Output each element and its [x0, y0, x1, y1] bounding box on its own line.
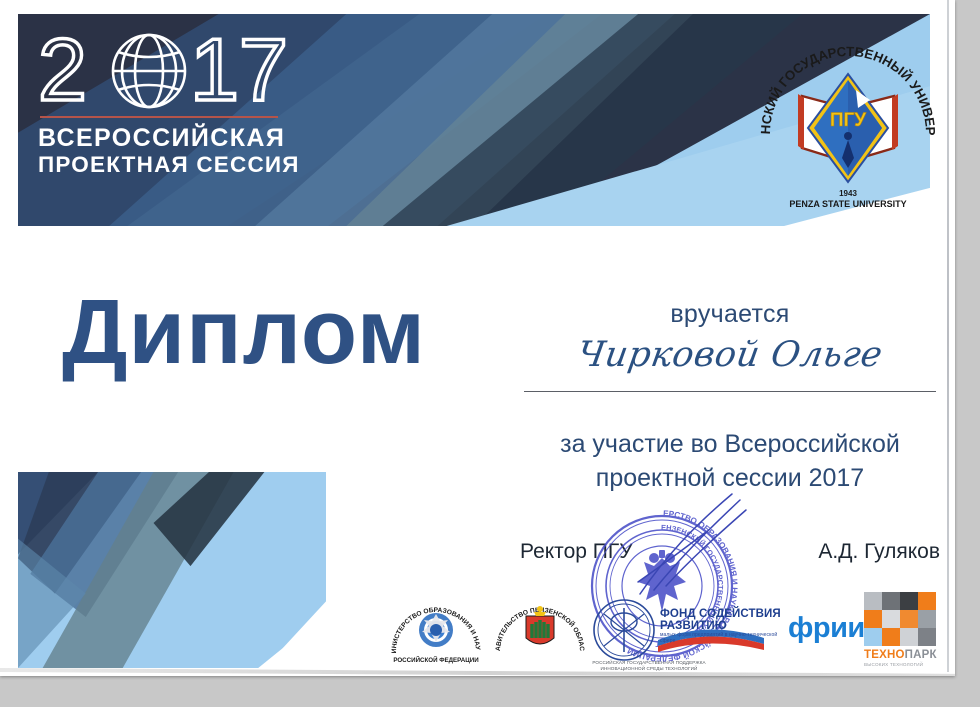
recipient-rule [524, 391, 936, 392]
paper-right-edge [947, 0, 949, 672]
recipient-line: Чирковой Ольге [520, 329, 940, 401]
fund-subtitle: малых форм предприятий в научно-техничес… [660, 632, 784, 644]
recipient-name: Чирковой Ольге [517, 335, 943, 375]
svg-text:PENZA STATE UNIVERSITY: PENZA STATE UNIVERSITY [789, 199, 906, 209]
svg-text:РОССИЙСКОЙ ФЕДЕРАЦИИ: РОССИЙСКОЙ ФЕДЕРАЦИИ [393, 656, 479, 664]
event-logo: 2 17 ВСЕРОССИЙСКАЯ ПРОЕКТНАЯ СЕСС [38, 30, 306, 177]
university-emblem: ПЕНЗЕНСКИЙ ГОСУДАРСТВЕННЫЙ УНИВЕРСИТЕТ [752, 16, 944, 214]
event-logo-line1: ВСЕРОССИЙСКАЯ [38, 124, 306, 152]
technopark-mosaic-icon [864, 592, 936, 646]
ministry-of-education-logo: МИНИСТЕРСТВО ОБРАЗОВАНИЯ И НАУКИ РОССИЙС… [384, 590, 488, 668]
globe-icon [113, 35, 185, 107]
technopark-logo: ТЕХНОПАРК ВЫСОКИХ ТЕХНОЛОГИЙ [864, 592, 944, 670]
svg-text:ПГУ: ПГУ [830, 110, 866, 131]
fund-caption-1: РОССИЙСКАЯ ГОСУДАРСТВЕННАЯ ПОДДЕРЖКА [584, 660, 714, 666]
event-logo-line2: ПРОЕКТНАЯ СЕССИЯ [38, 152, 306, 177]
award-reason: за участие во Всероссийской проектной се… [520, 427, 940, 495]
svg-text:1943: 1943 [839, 189, 857, 198]
presented-label: вручается [520, 300, 940, 329]
technopark-title-part1: ТЕХНО [864, 649, 905, 661]
penza-region-government-logo: ПРАВИТЕЛЬСТВО ПЕНЗЕНСКОЙ ОБЛАСТИ [488, 590, 592, 668]
fund-assistance-logo: ФОНД СОДЕЙСТВИЯ РАЗВИТИЮ малых форм пред… [584, 596, 784, 668]
technopark-title-part2: ПАРК [905, 649, 937, 661]
award-block: вручается Чирковой Ольге за участие во В… [520, 300, 940, 495]
ministry-crest-icon [419, 613, 453, 647]
fund-caption-2: ИННОВАЦИОННОЙ СРЕДЫ ТЕХНОЛОГИЙ [584, 666, 714, 672]
event-logo-rule [40, 116, 278, 118]
technopark-subtitle: ВЫСОКИХ ТЕХНОЛОГИЙ [864, 662, 944, 667]
paper-sheet: 2 17 ВСЕРОССИЙСКАЯ ПРОЕКТНАЯ СЕСС [0, 0, 955, 676]
svg-text:17: 17 [190, 30, 288, 112]
page-title: Диплом [62, 286, 426, 378]
svg-text:2: 2 [38, 30, 87, 112]
event-logo-year: 2 17 [38, 30, 306, 112]
award-reason-line1: за участие во Всероссийской [520, 427, 940, 461]
footer-geometric-decoration [18, 472, 326, 668]
fund-emblem-icon [594, 600, 654, 660]
frii-logo: фрии [788, 612, 865, 645]
footer-logo-row: МИНИСТЕРСТВО ОБРАЗОВАНИЯ И НАУКИ РОССИЙС… [384, 588, 944, 670]
award-reason-line2: проектной сессии 2017 [520, 461, 940, 495]
signer-name: А.Д. Гуляков [818, 540, 940, 564]
frii-title: фрии [788, 612, 865, 645]
technopark-title: ТЕХНОПАРК [864, 649, 944, 661]
certificate-page: 2 17 ВСЕРОССИЙСКАЯ ПРОЕКТНАЯ СЕСС [0, 0, 980, 707]
fund-title: ФОНД СОДЕЙСТВИЯ РАЗВИТИЮ [660, 608, 784, 632]
